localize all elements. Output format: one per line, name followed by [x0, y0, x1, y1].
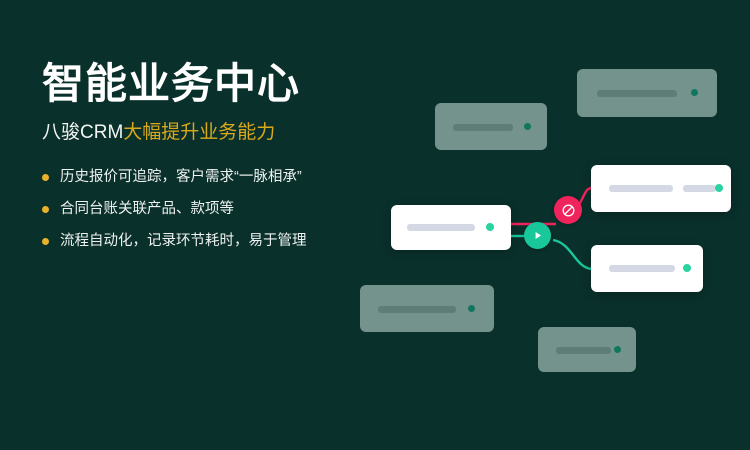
- hero-subtitle-brand: 八骏CRM: [42, 122, 123, 143]
- bullet-dot-icon: [42, 174, 49, 181]
- ghost-card: [435, 103, 547, 150]
- play-icon: [531, 229, 544, 242]
- hero-subtitle-highlight: 大幅提升业务能力: [123, 122, 275, 143]
- placeholder-bar: [597, 90, 677, 97]
- run-path: [511, 236, 592, 269]
- status-dot: [715, 184, 723, 192]
- list-item: 合同台账关联产品、款项等: [42, 199, 402, 220]
- bullet-dot-icon: [42, 206, 49, 213]
- ghost-card: [577, 69, 717, 117]
- list-item: 流程自动化，记录环节耗时，易于管理: [42, 231, 402, 252]
- hero-text-panel: 智能业务中心 八骏CRM大幅提升业务能力 历史报价可追踪，客户需求“一脉相承” …: [42, 62, 402, 252]
- placeholder-bar: [378, 306, 456, 313]
- list-item-label: 历史报价可追踪，客户需求“一脉相承”: [60, 169, 302, 185]
- status-dot: [486, 223, 494, 231]
- list-item-label: 流程自动化，记录环节耗时，易于管理: [60, 233, 307, 249]
- page-title: 智能业务中心: [42, 62, 402, 106]
- bullet-dot-icon: [42, 238, 49, 245]
- run-branch-card[interactable]: [591, 245, 703, 292]
- placeholder-bar: [609, 265, 675, 272]
- placeholder-bar: [453, 124, 513, 131]
- status-dot: [524, 123, 531, 130]
- block-badge[interactable]: [554, 196, 582, 224]
- play-badge[interactable]: [524, 222, 551, 249]
- status-dot: [683, 264, 691, 272]
- placeholder-bar: [609, 185, 673, 192]
- list-item: 历史报价可追踪，客户需求“一脉相承”: [42, 167, 402, 188]
- status-dot: [614, 346, 621, 353]
- placeholder-bar: [407, 224, 475, 231]
- promo-banner: 智能业务中心 八骏CRM大幅提升业务能力 历史报价可追踪，客户需求“一脉相承” …: [0, 0, 750, 450]
- feature-bullet-list: 历史报价可追踪，客户需求“一脉相承” 合同台账关联产品、款项等 流程自动化，记录…: [42, 167, 402, 252]
- status-dot: [691, 89, 698, 96]
- prohibited-icon: [561, 203, 576, 218]
- status-dot: [468, 305, 475, 312]
- hero-subtitle: 八骏CRM大幅提升业务能力: [42, 122, 402, 145]
- list-item-label: 合同台账关联产品、款项等: [60, 201, 234, 217]
- blocked-branch-card[interactable]: [591, 165, 731, 212]
- ghost-card: [538, 327, 636, 372]
- ghost-card: [360, 285, 494, 332]
- source-card[interactable]: [391, 205, 511, 250]
- placeholder-bar-secondary: [683, 185, 716, 192]
- placeholder-bar: [556, 347, 611, 354]
